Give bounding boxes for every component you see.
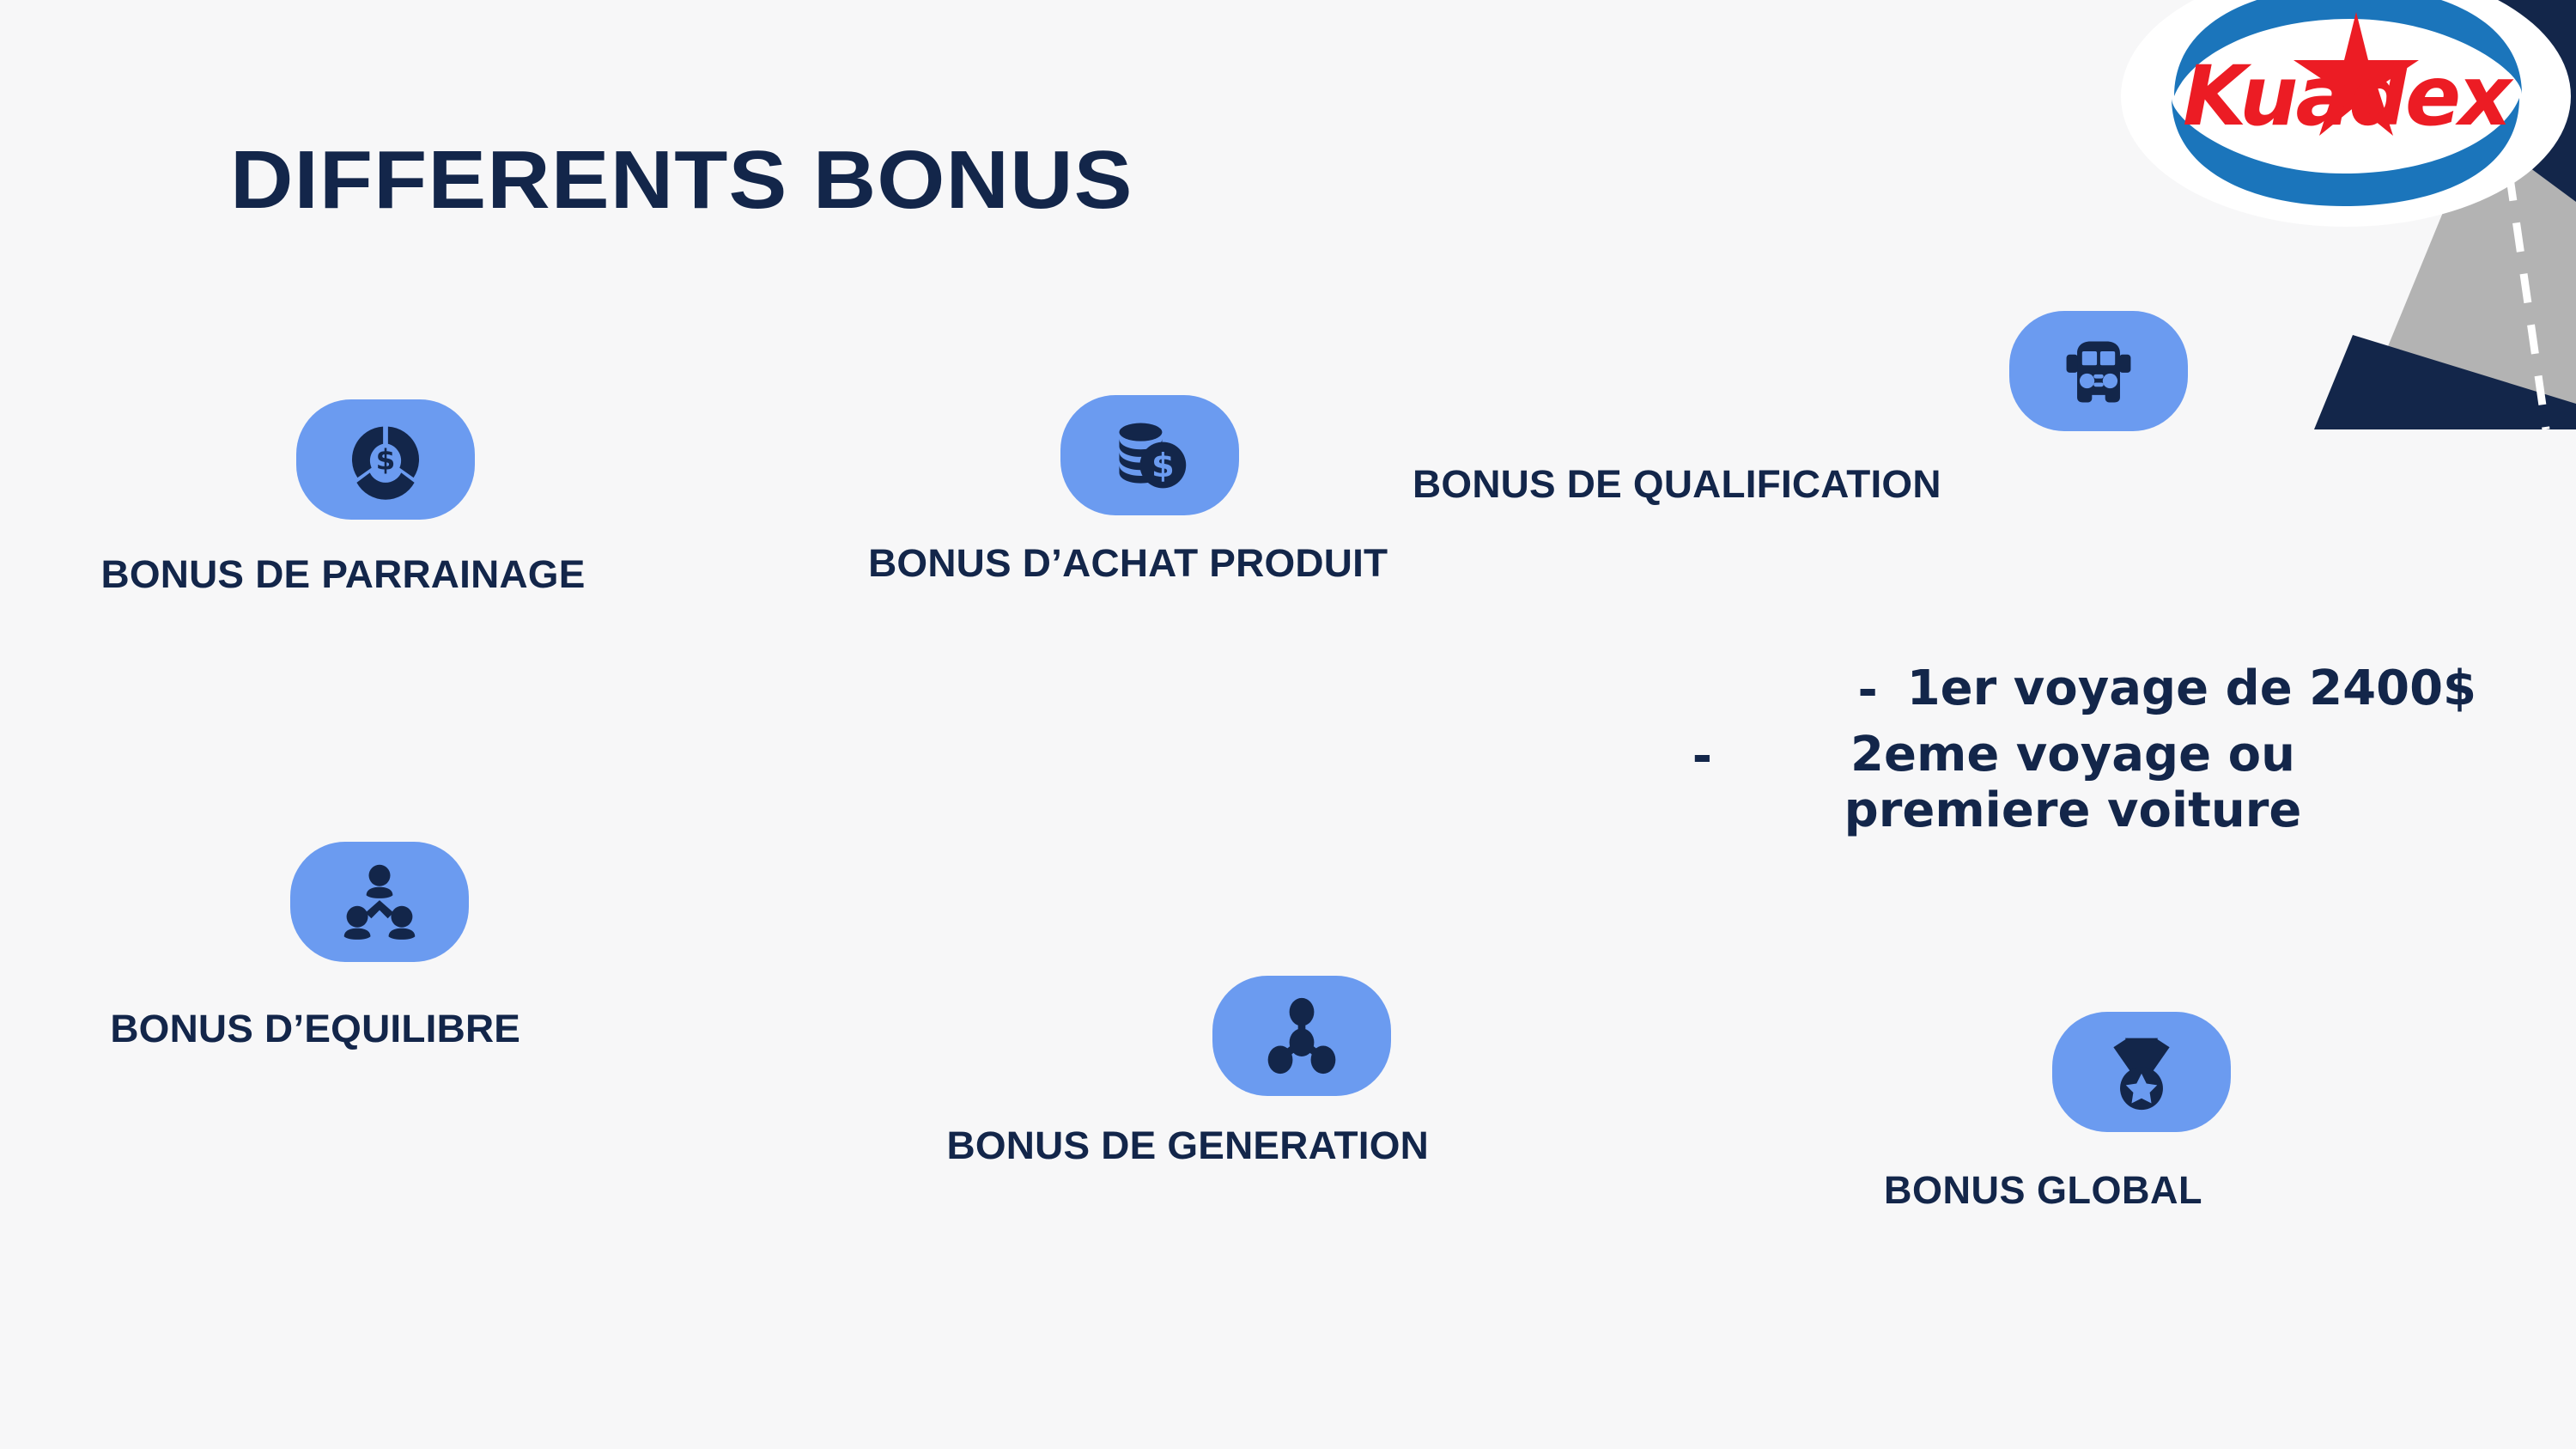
bonus-label-parrainage: BONUS DE PARRAINAGE [100, 552, 585, 597]
bonus-label-qualification: BONUS DE QUALIFICATION [1413, 462, 2196, 507]
bonus-item-qualification: BONUS DE QUALIFICATION [2009, 311, 2188, 507]
bonus-item-achat: $ BONUS D’ACHAT PRODUIT [1060, 395, 1382, 586]
coins-stack-dollar-icon: $ [1109, 414, 1191, 496]
network-nodes-icon [1261, 995, 1343, 1077]
road-navy-edge [2314, 335, 2576, 429]
bonus-label-equilibre: BONUS D’EQUILIBRE [110, 1007, 520, 1051]
three-people-group-icon [338, 861, 421, 943]
icon-pill-equilibre [290, 842, 469, 962]
bullet-marker: - [1692, 729, 1712, 785]
medal-star-icon [2100, 1031, 2183, 1113]
icon-pill-achat: $ [1060, 395, 1239, 515]
page-title: DIFFERENTS BONUS [230, 133, 1133, 228]
qualification-bullet-text-2: 2eme voyage ou premiere voiture [1747, 728, 2399, 839]
bonus-label-achat: BONUS D’ACHAT PRODUIT [868, 541, 1388, 586]
kuadex-logo: Kuadex [2123, 0, 2569, 225]
slide-canvas: Kuadex DIFFERENTS BONUS $ BONUS DE PARRA… [0, 0, 2576, 1449]
bonus-label-generation: BONUS DE GENERATION [946, 1123, 1429, 1168]
bonus-item-global: BONUS GLOBAL [2052, 1012, 2231, 1213]
qualification-details-list: - 1er voyage de 2400$ - 2eme voyage ou p… [1614, 661, 2482, 848]
pie-chart-dollar-icon: $ [344, 418, 427, 501]
icon-pill-generation [1212, 976, 1391, 1096]
icon-pill-global [2052, 1012, 2231, 1132]
qualification-bullet-1: - 1er voyage de 2400$ [1614, 661, 2482, 719]
bonus-item-generation: BONUS DE GENERATION [1212, 976, 1425, 1168]
icon-pill-parrainage: $ [296, 399, 475, 520]
bonus-item-parrainage: $ BONUS DE PARRAINAGE [296, 399, 580, 597]
bullet-marker: - [1857, 663, 1877, 719]
bus-icon [2057, 330, 2140, 412]
svg-text:$: $ [376, 444, 396, 477]
logo-wordmark: Kuadex [2123, 55, 2569, 137]
bonus-item-equilibre: BONUS D’EQUILIBRE [290, 842, 516, 1051]
svg-text:$: $ [1151, 447, 1175, 485]
bonus-label-global: BONUS GLOBAL [1884, 1168, 2231, 1213]
qualification-bullet-2: - 2eme voyage ou premiere voiture [1614, 728, 2482, 839]
icon-pill-qualification [2009, 311, 2188, 431]
qualification-bullet-text-1: 1er voyage de 2400$ [1907, 661, 2476, 717]
